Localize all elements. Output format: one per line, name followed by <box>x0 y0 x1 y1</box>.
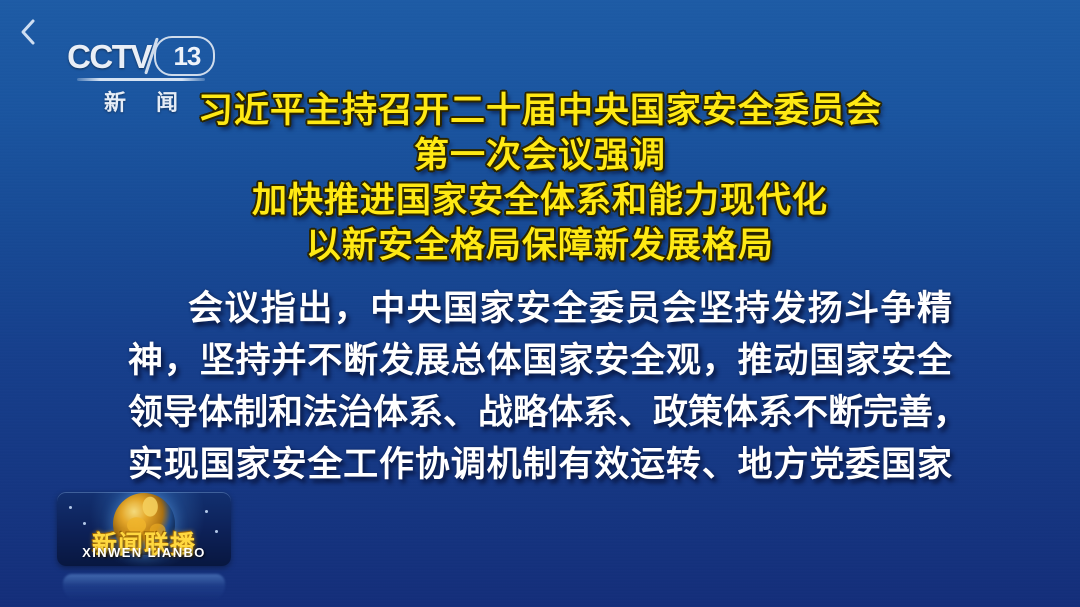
cctv-channel-number-pill: 13 <box>154 36 215 76</box>
xinwen-lianbo-watermark: 新闻联播 XINWEN LIANBO <box>57 492 231 566</box>
headline-line-3: 加快推进国家安全体系和能力现代化 <box>0 178 1080 223</box>
cctv-underline-rule <box>77 78 205 81</box>
watermark-reflection <box>63 574 225 600</box>
body-line-2: 神，坚持并不断发展总体国家安全观，推动国家安全 <box>128 335 952 387</box>
body-line-4: 实现国家安全工作协调机制有效运转、地方党委国家 <box>128 439 952 491</box>
cctv13-channel-logo: CCTV 13 新 闻 <box>66 36 216 117</box>
program-name-en: XINWEN LIANBO <box>57 545 231 560</box>
video-player-screen: CCTV 13 新 闻 习近平主持召开二十届中央国家安全委员会 第一次会议强调 … <box>0 0 1080 607</box>
body-line-3: 领导体制和法治体系、战略体系、政策体系不断完善， <box>128 387 952 439</box>
cctv-logo-row: CCTV 13 <box>66 36 216 76</box>
headline-line-4: 以新安全格局保障新发展格局 <box>0 223 1080 268</box>
body-paragraph: 会议指出，中央国家安全委员会坚持发扬斗争精 神，坚持并不断发展总体国家安全观，推… <box>128 283 952 491</box>
cctv-subtitle: 新 闻 <box>66 85 216 117</box>
sparkle-dot <box>69 506 72 509</box>
cctv-channel-number: 13 <box>173 43 200 69</box>
sparkle-dot <box>205 510 208 513</box>
body-line-1: 会议指出，中央国家安全委员会坚持发扬斗争精 <box>128 283 952 335</box>
back-button[interactable] <box>8 12 48 52</box>
cctv-brand-text: CCTV <box>67 40 151 73</box>
headline-line-2: 第一次会议强调 <box>0 133 1080 178</box>
chevron-left-icon <box>18 18 38 46</box>
